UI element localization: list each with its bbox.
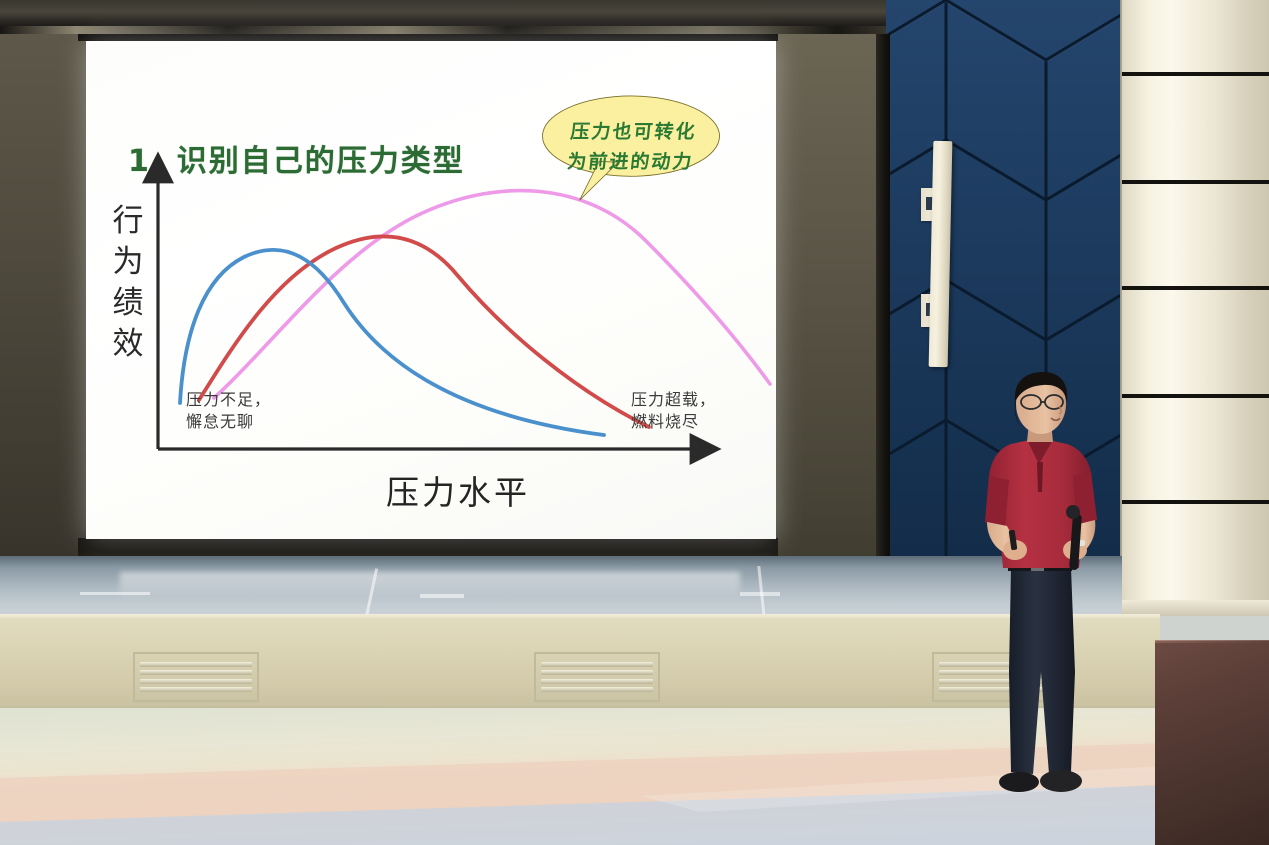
shoe-right — [1040, 770, 1082, 792]
speech-bubble-line2: 为前进的动力 — [531, 147, 730, 177]
column-joint-line — [1122, 500, 1269, 504]
low-stress-note-line1: 压力不足， — [186, 389, 271, 411]
stage-marker — [740, 592, 780, 596]
low-stress-note-line2: 懈怠无聊 — [186, 411, 271, 433]
right-wall-panel — [770, 34, 888, 614]
trousers — [1009, 568, 1075, 774]
side-table — [1155, 643, 1269, 845]
vent-grille — [534, 652, 660, 702]
low-stress-note: 压力不足， 懈怠无聊 — [186, 389, 271, 433]
stage-marker — [420, 594, 464, 598]
cream-column — [1122, 0, 1269, 612]
speech-bubble-text: 压力也可转化 为前进的动力 — [531, 117, 733, 177]
column-joint-line — [1122, 286, 1269, 290]
presenter — [975, 372, 1105, 804]
left-wall-panel — [0, 34, 86, 614]
shoe-left — [999, 772, 1039, 792]
column-joint-line — [1122, 72, 1269, 76]
high-stress-note: 压力超载， 燃料烧尽 — [631, 389, 716, 433]
speech-bubble-line1: 压力也可转化 — [534, 117, 733, 147]
screen-frame-top — [78, 34, 778, 41]
high-stress-note-line2: 燃料烧尽 — [631, 411, 716, 433]
column-joint-line — [1122, 180, 1269, 184]
column-joint-line — [1122, 394, 1269, 398]
projected-slide: 1. 识别自己的压力类型 行 为 绩 效 压力不足， 懈怠 — [86, 41, 776, 539]
x-axis-label: 压力水平 — [386, 466, 530, 514]
shirt-placket — [1037, 462, 1043, 492]
microphone-head — [1066, 505, 1080, 519]
vent-grille — [133, 652, 259, 702]
sleeve-left — [985, 476, 1009, 528]
high-stress-note-line1: 压力超载， — [631, 389, 716, 411]
curve-high-tolerance — [214, 191, 770, 398]
wall-edge-shadow — [876, 34, 890, 614]
lecture-hall-photo: 1. 识别自己的压力类型 行 为 绩 效 压力不足， 懈怠 — [0, 0, 1269, 845]
stage-marker — [80, 592, 150, 595]
